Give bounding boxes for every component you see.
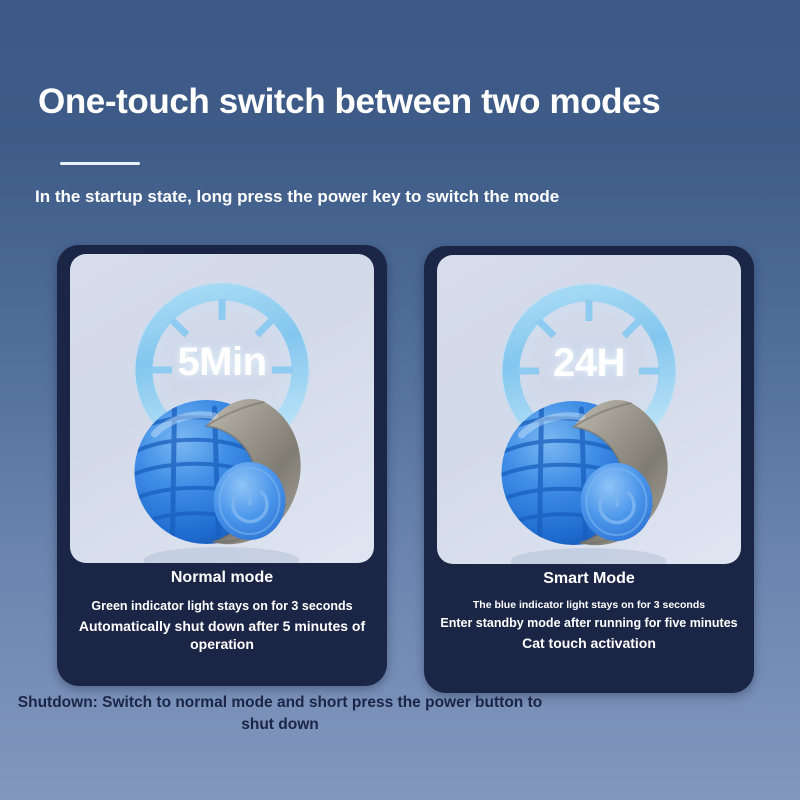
mode-card-text-normal: Normal mode Green indicator light stays … — [57, 569, 387, 656]
mode-card-normal[interactable]: 5Min — [57, 245, 387, 686]
mode-detail-line: Cat touch activation — [432, 634, 746, 652]
mode-card-text-smart: Smart Mode The blue indicator light stay… — [424, 570, 754, 655]
mode-card-image-normal: 5Min — [70, 254, 374, 563]
mode-card-smart[interactable]: 24H — [424, 246, 754, 693]
mode-detail-line: The blue indicator light stays on for 3 … — [432, 599, 746, 612]
mode-title-normal: Normal mode — [65, 569, 379, 587]
mode-title-smart: Smart Mode — [432, 570, 746, 588]
shutdown-note: Shutdown: Switch to normal mode and shor… — [0, 692, 560, 736]
product-ball-image-normal — [115, 364, 330, 563]
mode-detail-line: Enter standby mode after running for fiv… — [432, 615, 746, 631]
mode-card-list: 5Min — [0, 0, 800, 800]
mode-detail-line: Green indicator light stays on for 3 sec… — [65, 598, 379, 614]
mode-detail-line: Automatically shut down after 5 minutes … — [65, 617, 379, 653]
mode-card-image-smart: 24H — [437, 255, 741, 564]
product-ball-image-smart — [482, 365, 697, 564]
